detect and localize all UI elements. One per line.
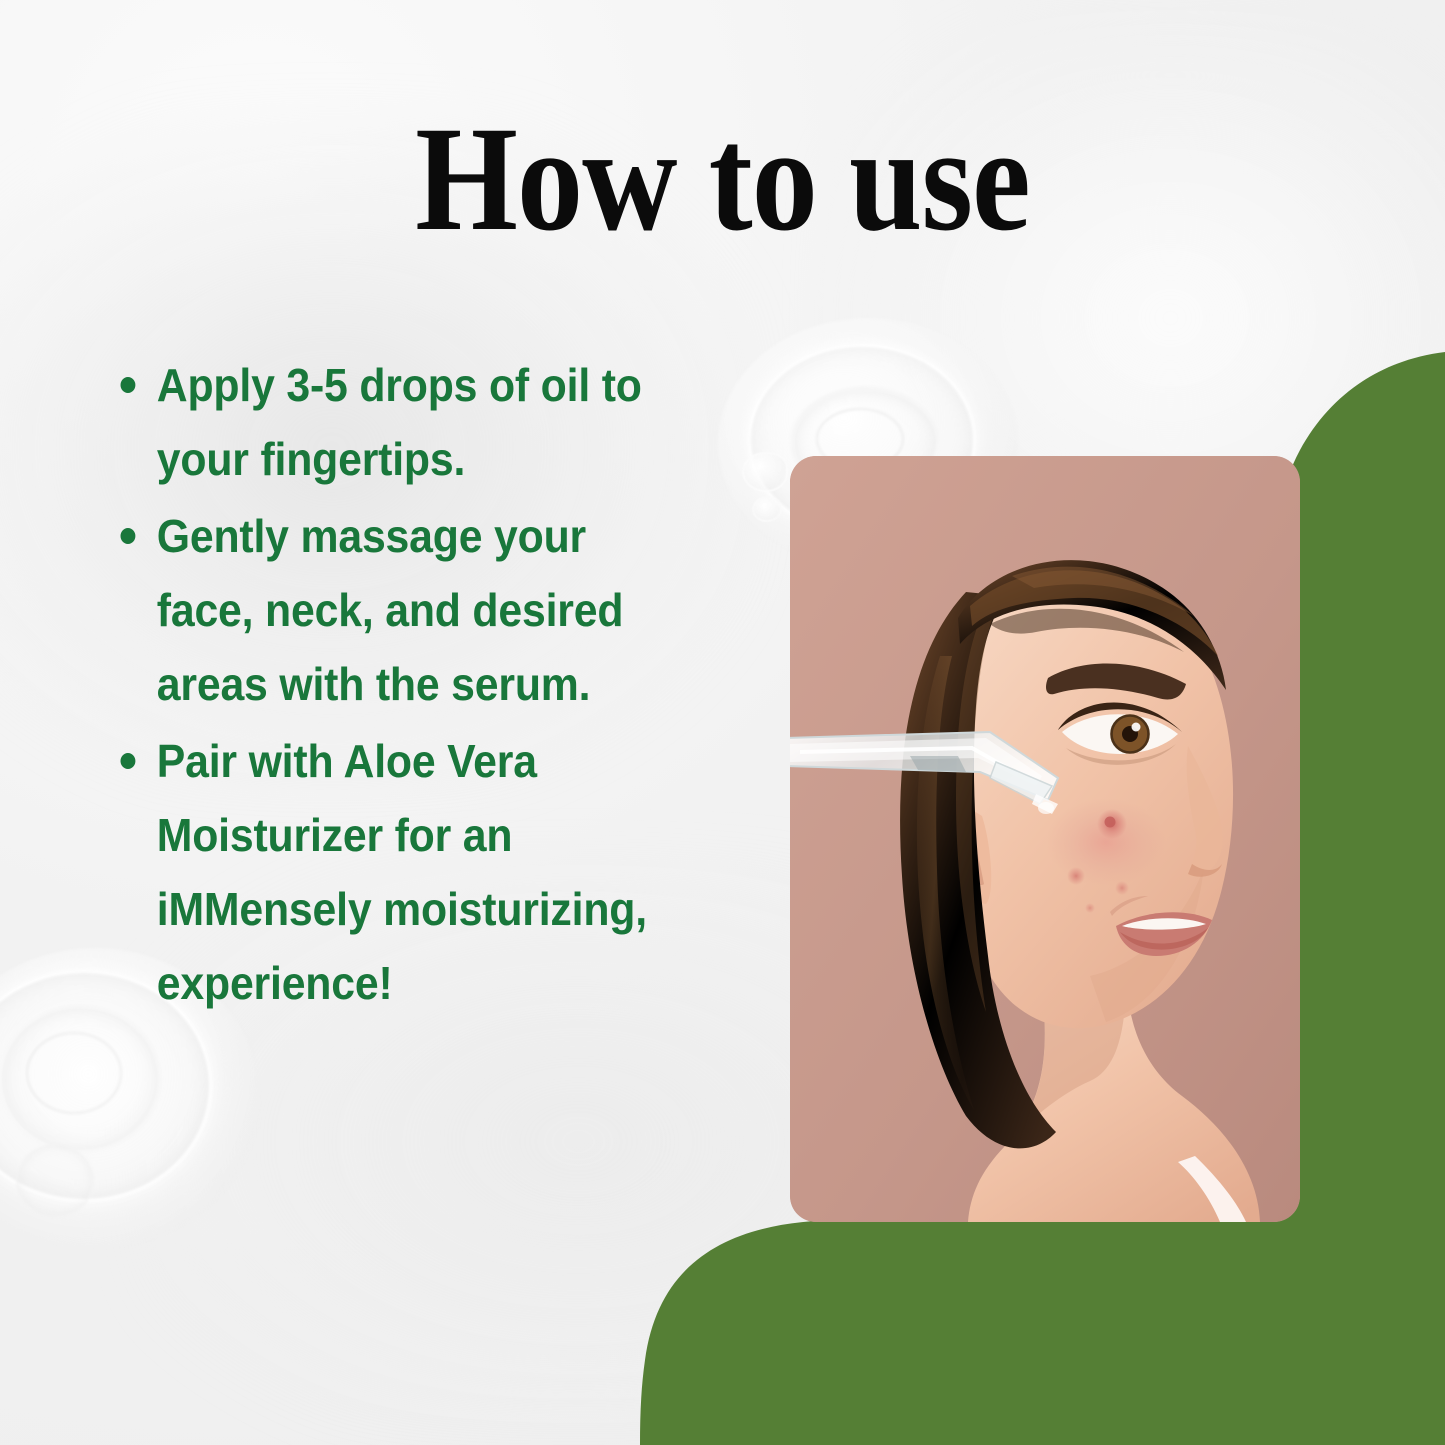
how-to-use-infographic: How to use Apply 3-5 drops of oil to you… bbox=[0, 0, 1445, 1445]
bullet-dot-icon bbox=[121, 753, 136, 769]
list-item-step-2: Gently massage your face, neck, and desi… bbox=[114, 499, 672, 721]
list-item-step-3: Pair with Aloe Vera Moisturizer for an i… bbox=[114, 724, 672, 1020]
list-item-step-1: Apply 3-5 drops of oil to your fingertip… bbox=[114, 348, 672, 496]
step-text: Gently massage your face, neck, and desi… bbox=[157, 510, 624, 710]
bullet-dot-icon bbox=[121, 528, 136, 544]
bullet-dot-icon bbox=[121, 377, 136, 393]
how-to-use-step-list: Apply 3-5 drops of oil to your fingertip… bbox=[114, 348, 714, 1023]
product-usage-photo bbox=[790, 456, 1300, 1222]
step-text: Pair with Aloe Vera Moisturizer for an i… bbox=[157, 735, 647, 1009]
step-text: Apply 3-5 drops of oil to your fingertip… bbox=[157, 359, 642, 485]
page-title: How to use bbox=[87, 104, 1359, 254]
